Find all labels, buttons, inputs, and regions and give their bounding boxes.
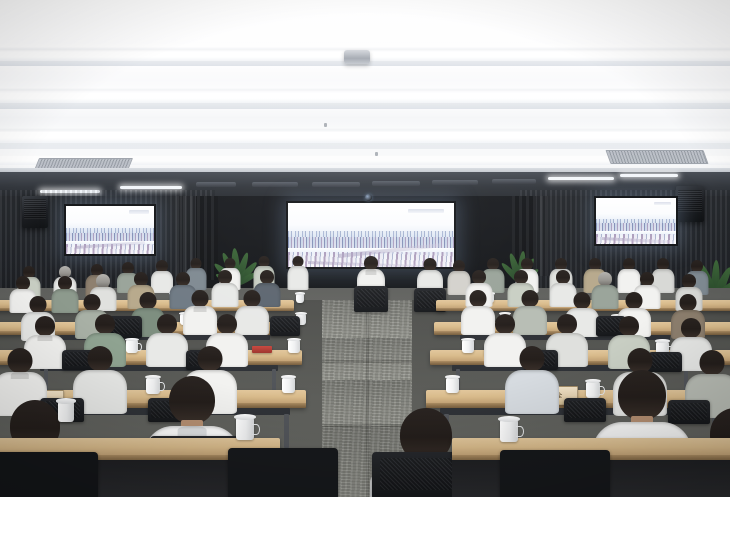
chair-foreground[interactable]: [0, 452, 98, 497]
ceiling-seam: [0, 88, 730, 92]
right-screen-content: [596, 198, 676, 244]
ceiling-light-housing: [0, 143, 730, 149]
speaker-grill-icon: [24, 199, 46, 219]
screen-camera-icon: [365, 194, 372, 201]
ceiling-dot-icon: [375, 152, 378, 156]
hvac-vent-right: [605, 150, 708, 164]
chair-mesh: [272, 318, 297, 332]
screen-logo: [408, 209, 445, 213]
mug: [296, 294, 304, 303]
mug-lid: [445, 375, 461, 379]
soffit-light: [548, 177, 614, 180]
attendee: [148, 314, 186, 366]
soffit-slot: [196, 182, 236, 187]
attendee: [508, 346, 556, 412]
mug: [586, 382, 600, 398]
letterbox-bottom: [0, 497, 730, 548]
ceiling-device-icon: [344, 50, 370, 64]
conference-room-photo: 姓名: [0, 0, 730, 497]
mug: [446, 378, 459, 393]
mug-lid: [585, 379, 602, 383]
mug-lid: [295, 292, 305, 294]
mug-lid: [498, 416, 520, 422]
speaker-grill-icon: [678, 190, 702, 212]
mug-lid: [287, 338, 301, 341]
chair[interactable]: [270, 316, 300, 336]
soffit-light: [620, 174, 678, 177]
screen-logo: [654, 202, 672, 205]
ceiling-light-strip: [0, 132, 730, 143]
right-screen[interactable]: [594, 196, 678, 246]
ceiling-light-housing: [0, 103, 730, 109]
mug-lid: [281, 375, 297, 379]
mug-lid: [56, 398, 75, 403]
mug-lid: [295, 312, 307, 315]
mug-lid: [461, 338, 475, 341]
speaker-left: [22, 196, 48, 228]
mug: [282, 378, 295, 393]
mug-lid: [655, 339, 671, 343]
chair-foreground[interactable]: [500, 450, 610, 497]
chair-foreground[interactable]: [228, 448, 338, 497]
soffit-slot: [492, 179, 536, 184]
screen-logo: [129, 210, 148, 213]
soffit-slot: [252, 182, 298, 187]
attendee: [52, 276, 78, 312]
red-booklet: [252, 346, 272, 353]
carpet-tile-seam: [366, 300, 369, 497]
chair[interactable]: [354, 286, 388, 312]
ceiling-dot-icon: [324, 123, 327, 127]
mug: [288, 340, 300, 353]
mug: [126, 340, 138, 353]
speaker-right: [676, 186, 704, 222]
mug-lid: [234, 414, 256, 420]
soffit-slot: [372, 181, 420, 186]
attendee: [288, 256, 308, 290]
mug-lid: [125, 338, 139, 341]
soffit-slot: [312, 182, 360, 187]
chair-mesh: [357, 289, 386, 307]
table-leg: [284, 414, 289, 448]
soffit-light: [120, 186, 182, 189]
mug: [236, 418, 254, 440]
attendee: [152, 260, 172, 292]
soffit-slot: [432, 180, 478, 185]
photo-container: 姓名: [0, 0, 730, 548]
left-screen[interactable]: [64, 204, 156, 256]
ceiling-light-strip: [0, 93, 730, 103]
mug: [500, 420, 518, 442]
mug: [58, 402, 74, 422]
chair-mesh: [567, 401, 602, 418]
left-screen-content: [66, 206, 154, 254]
mug: [462, 340, 474, 353]
